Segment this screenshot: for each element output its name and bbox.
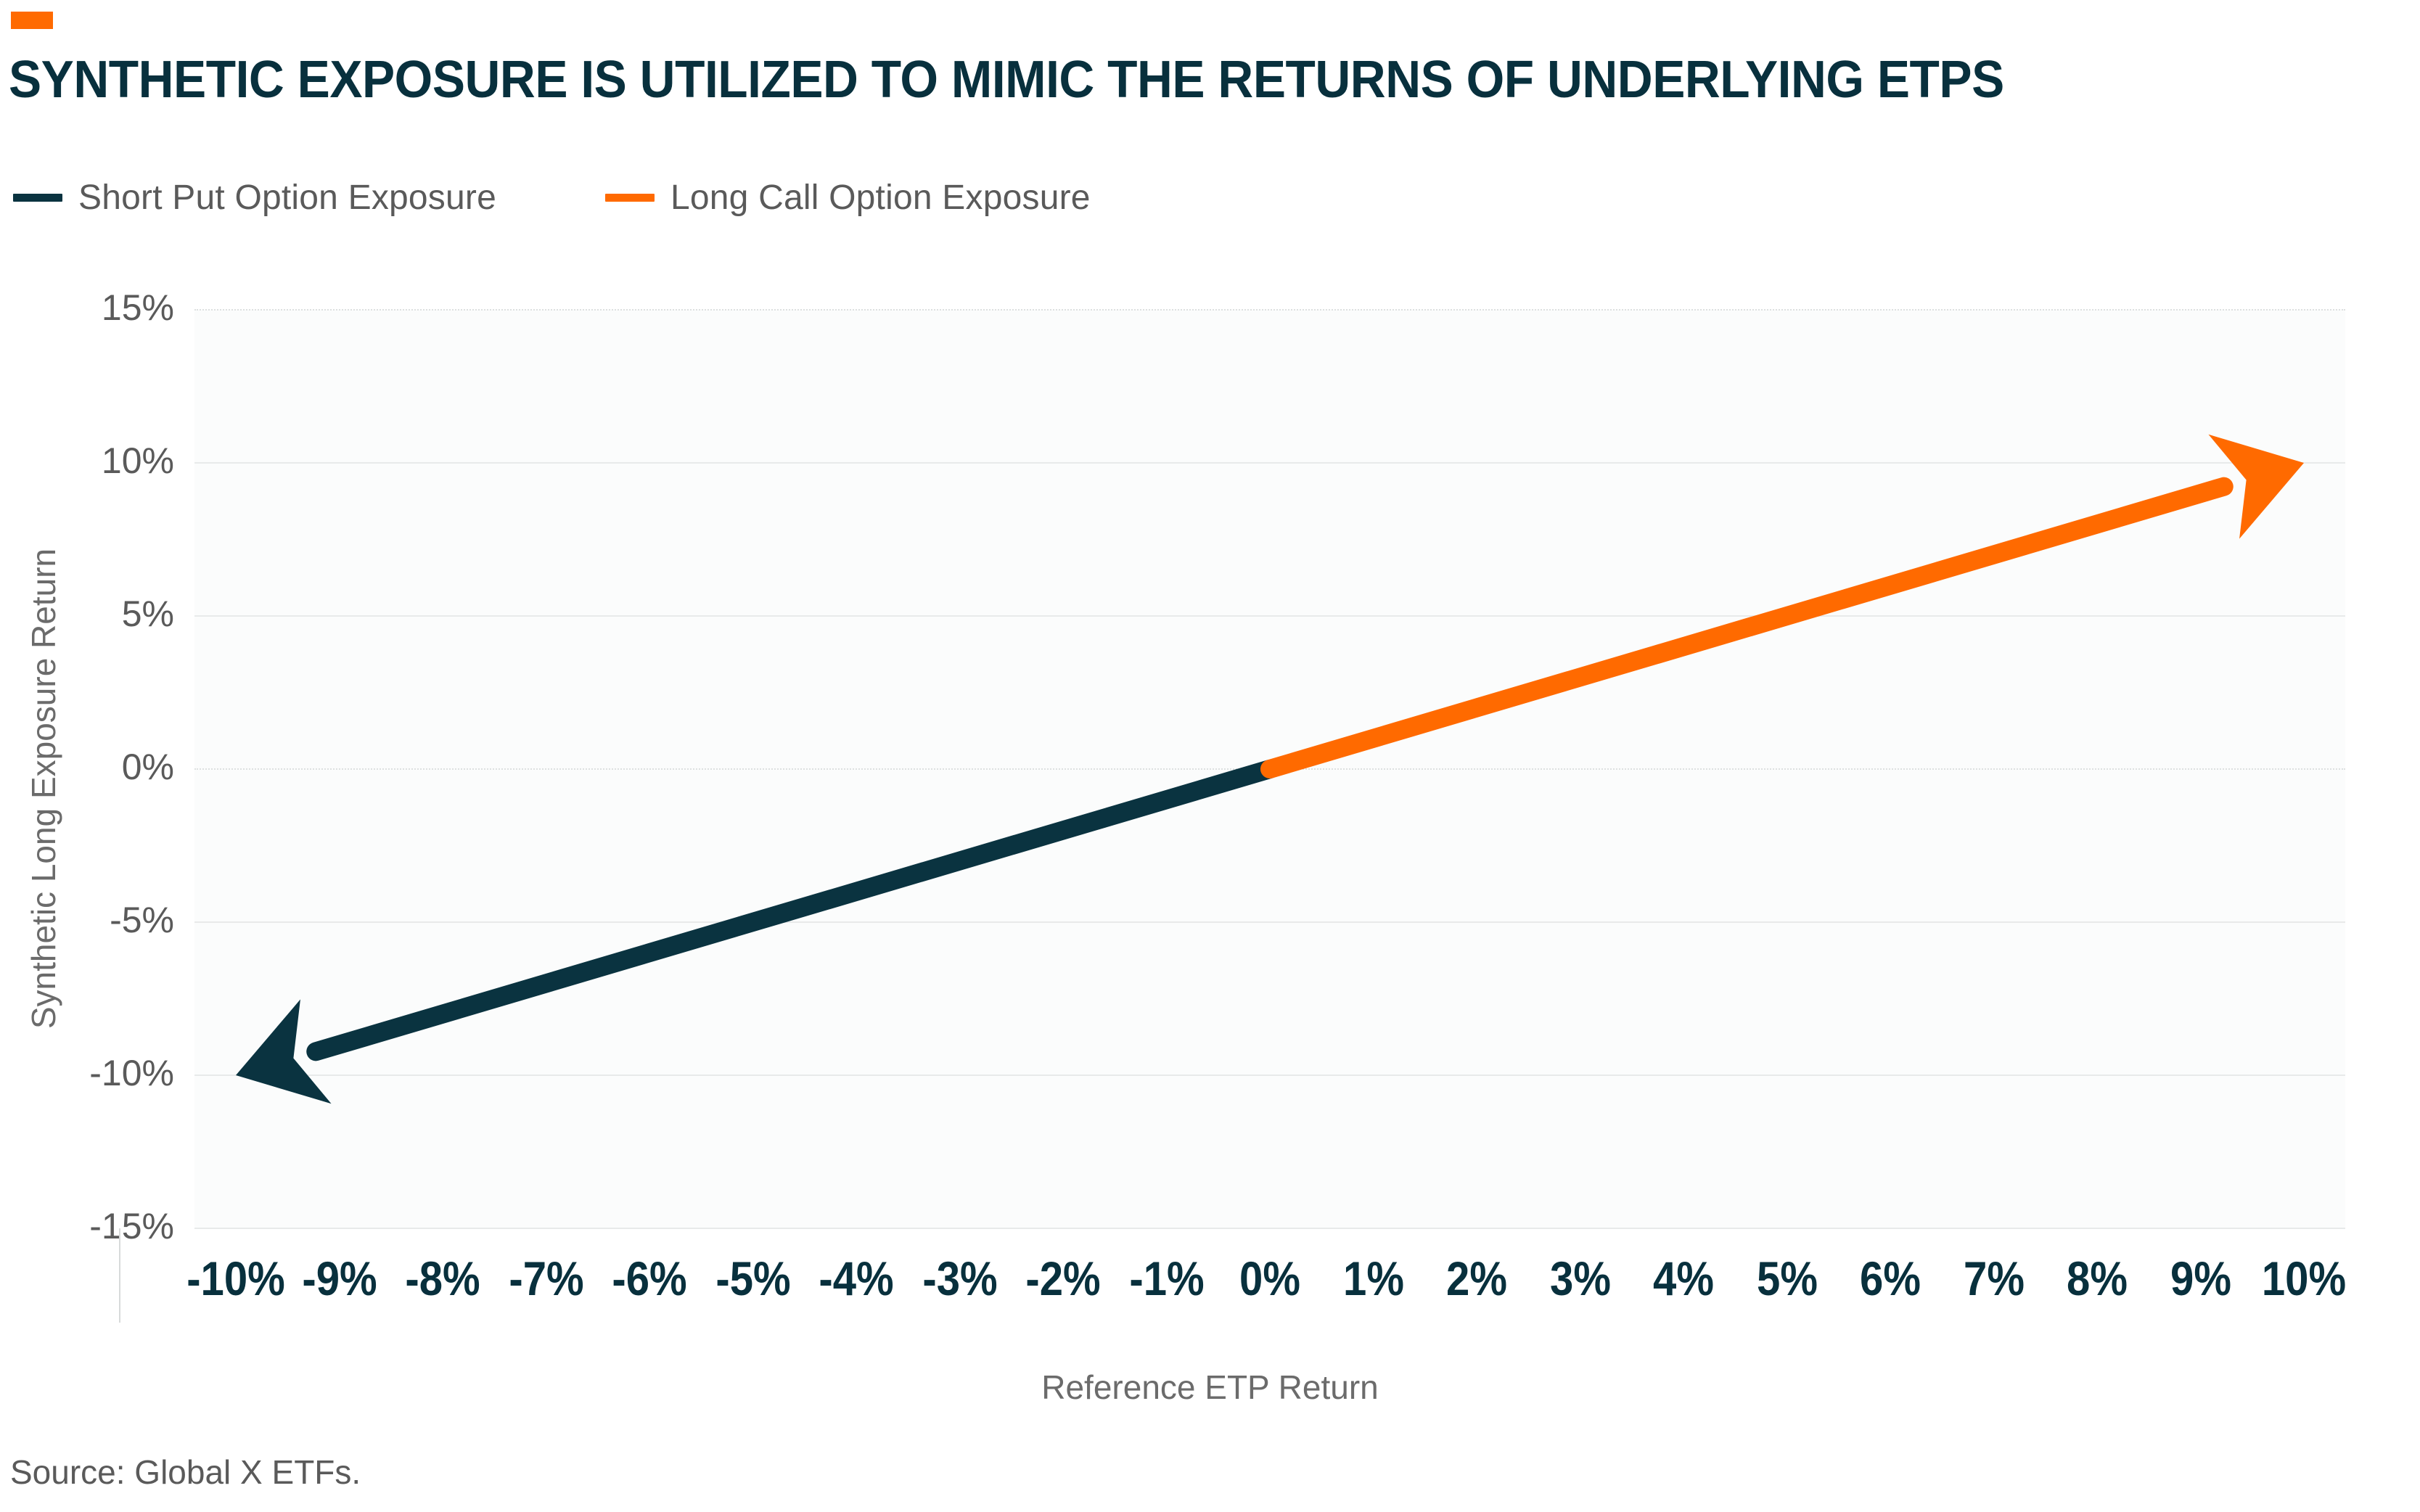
chart-plot-wrapper: 15%10%5%0%-5%-10%-15% Synthetic Long Exp…	[0, 0, 2420, 1512]
y-axis-tick-label: 10%	[22, 440, 174, 482]
x-axis-tick-label: 10%	[2227, 1251, 2380, 1306]
gridline	[194, 615, 2345, 617]
y-axis-tick-label: 15%	[22, 287, 174, 329]
gridline	[194, 309, 2345, 312]
x-axis-title: Reference ETP Return	[0, 1368, 2420, 1407]
gridline	[194, 462, 2345, 464]
gridline	[194, 1228, 2345, 1229]
x-axis-spine	[119, 1228, 120, 1323]
gridline	[194, 921, 2345, 923]
y-axis-tick-label: -15%	[22, 1205, 174, 1247]
source-note: Source: Global X ETFs.	[10, 1453, 361, 1492]
gridline	[194, 1075, 2345, 1076]
gridline	[194, 768, 2345, 771]
y-axis-title: Synthetic Long Exposure Return	[24, 477, 63, 1101]
